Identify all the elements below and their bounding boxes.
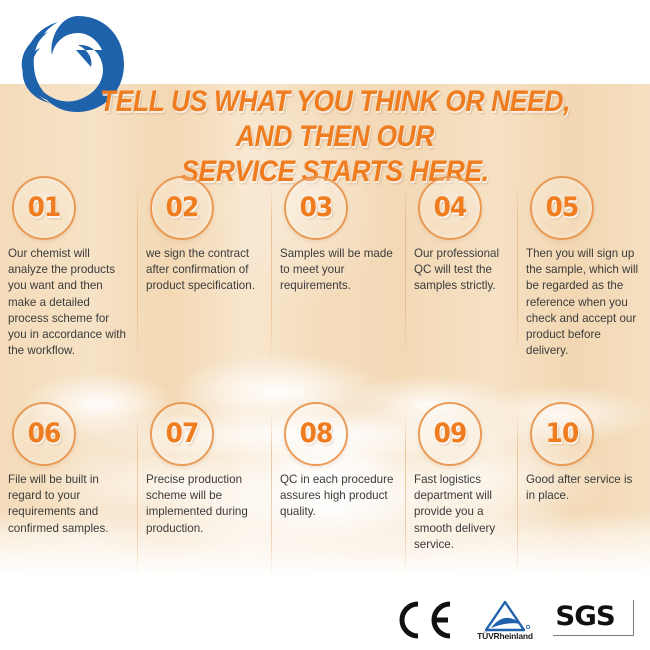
step-description: Our chemist will analyze the products yo… bbox=[8, 246, 130, 359]
sgs-logo: SGS bbox=[550, 599, 636, 641]
step-description: Then you will sign up the sample, which … bbox=[526, 246, 642, 359]
step-number-label: 08 bbox=[287, 402, 346, 466]
step-number-badge-03: 03 bbox=[284, 176, 348, 240]
step-description: Our professional QC will test the sample… bbox=[414, 246, 510, 295]
step-number-label: 06 bbox=[15, 402, 74, 466]
step-number-label: 01 bbox=[15, 176, 74, 240]
step-card-02[interactable]: 02 we sign the contract after confirmati… bbox=[138, 176, 272, 394]
tuv-rheinland-logo: TÜVRheinland bbox=[466, 597, 544, 643]
step-description: Precise production scheme will be implem… bbox=[146, 472, 264, 537]
sgs-wordmark: SGS bbox=[555, 601, 614, 632]
step-description: File will be built in regard to your req… bbox=[8, 472, 130, 537]
step-card-05[interactable]: 05 Then you will sign up the sample, whi… bbox=[518, 176, 650, 394]
step-number-badge-01: 01 bbox=[12, 176, 76, 240]
steps-row-1: 01 Our chemist will analyze the products… bbox=[0, 176, 650, 394]
step-number-badge-09: 09 bbox=[418, 402, 482, 466]
step-card-07[interactable]: 07 Precise production scheme will be imp… bbox=[138, 402, 272, 572]
sgs-underline bbox=[553, 635, 633, 637]
step-number-badge-05: 05 bbox=[530, 176, 594, 240]
step-number-badge-08: 08 bbox=[284, 402, 348, 466]
step-card-01[interactable]: 01 Our chemist will analyze the products… bbox=[0, 176, 138, 394]
certification-logos: TÜVRheinland SGS bbox=[392, 596, 642, 644]
step-card-09[interactable]: 09 Fast logistics department will provid… bbox=[406, 402, 518, 572]
step-number-label: 09 bbox=[421, 402, 480, 466]
step-description: QC in each procedure assures high produc… bbox=[280, 472, 398, 521]
step-card-06[interactable]: 06 File will be built in regard to your … bbox=[0, 402, 138, 572]
ce-mark-icon bbox=[392, 599, 454, 641]
step-card-03[interactable]: 03 Samples will be made to meet your req… bbox=[272, 176, 406, 394]
step-number-label: 07 bbox=[153, 402, 212, 466]
step-card-10[interactable]: 10 Good after service is in place. bbox=[518, 402, 650, 572]
step-number-label: 03 bbox=[287, 176, 346, 240]
step-number-label: 04 bbox=[421, 176, 480, 240]
sgs-sidebar bbox=[633, 600, 635, 636]
step-card-04[interactable]: 04 Our professional QC will test the sam… bbox=[406, 176, 518, 394]
step-number-badge-02: 02 bbox=[150, 176, 214, 240]
service-process-infographic: TELL US WHAT YOU THINK OR NEED, AND THEN… bbox=[0, 0, 650, 650]
step-number-label: 05 bbox=[533, 176, 592, 240]
step-description: we sign the contract after confirmation … bbox=[146, 246, 264, 295]
steps-grid: 01 Our chemist will analyze the products… bbox=[0, 84, 650, 576]
step-number-badge-07: 07 bbox=[150, 402, 214, 466]
step-description: Samples will be made to meet your requir… bbox=[280, 246, 398, 295]
step-number-badge-06: 06 bbox=[12, 402, 76, 466]
step-number-label: 10 bbox=[533, 402, 592, 466]
step-description: Fast logistics department will provide y… bbox=[414, 472, 510, 553]
step-number-badge-10: 10 bbox=[530, 402, 594, 466]
step-card-08[interactable]: 08 QC in each procedure assures high pro… bbox=[272, 402, 406, 572]
steps-row-2: 06 File will be built in regard to your … bbox=[0, 402, 650, 572]
step-number-label: 02 bbox=[153, 176, 212, 240]
step-number-badge-04: 04 bbox=[418, 176, 482, 240]
tuv-rheinland-wordmark: TÜVRheinland bbox=[466, 631, 544, 641]
step-description: Good after service is in place. bbox=[526, 472, 642, 504]
